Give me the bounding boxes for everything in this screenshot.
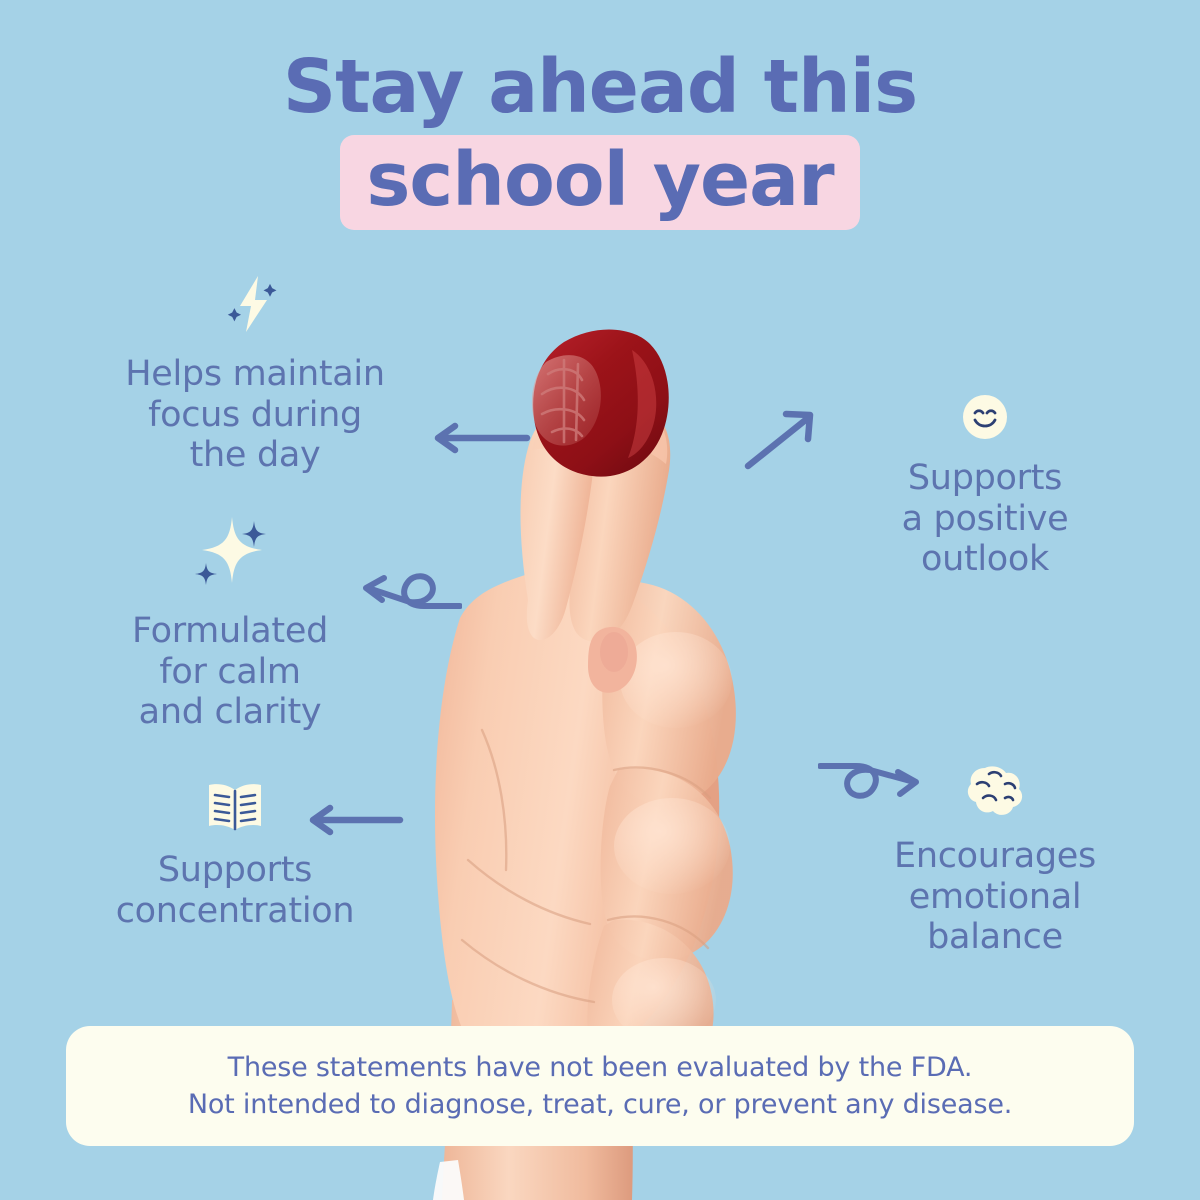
arrow-left-straight-icon-2 — [300, 790, 410, 852]
benefit-emotional-label: Encourages emotional balance — [894, 836, 1096, 957]
lightning-bolt-icon — [55, 270, 455, 344]
headline-highlight-wrap: school year — [0, 135, 1200, 230]
headline-block: Stay ahead this school year — [0, 52, 1200, 230]
arrow-up-right-icon — [738, 388, 858, 480]
benefit-focus: Helps maintain focus during the day — [55, 270, 455, 476]
red-gummy — [532, 329, 669, 476]
arrow-right-curly-icon — [818, 752, 936, 834]
arrow-left-curly-icon — [352, 548, 462, 620]
smiley-face-icon — [820, 390, 1150, 448]
promo-poster: Stay ahead this school year — [0, 0, 1200, 1200]
benefit-outlook-label: Supports a positive outlook — [902, 458, 1069, 579]
disclaimer-box: These statements have not been evaluated… — [66, 1026, 1134, 1146]
benefit-concentration-label: Supports concentration — [116, 850, 355, 931]
page-title-line-2: school year — [340, 135, 859, 230]
page-title-line-1: Stay ahead this — [0, 52, 1200, 123]
benefit-calm-label: Formulated for calm and clarity — [132, 611, 328, 732]
disclaimer-text: These statements have not been evaluated… — [188, 1049, 1012, 1124]
arrow-left-straight-icon — [425, 405, 535, 475]
benefit-outlook: Supports a positive outlook — [820, 390, 1150, 580]
benefit-focus-label: Helps maintain focus during the day — [125, 354, 384, 475]
